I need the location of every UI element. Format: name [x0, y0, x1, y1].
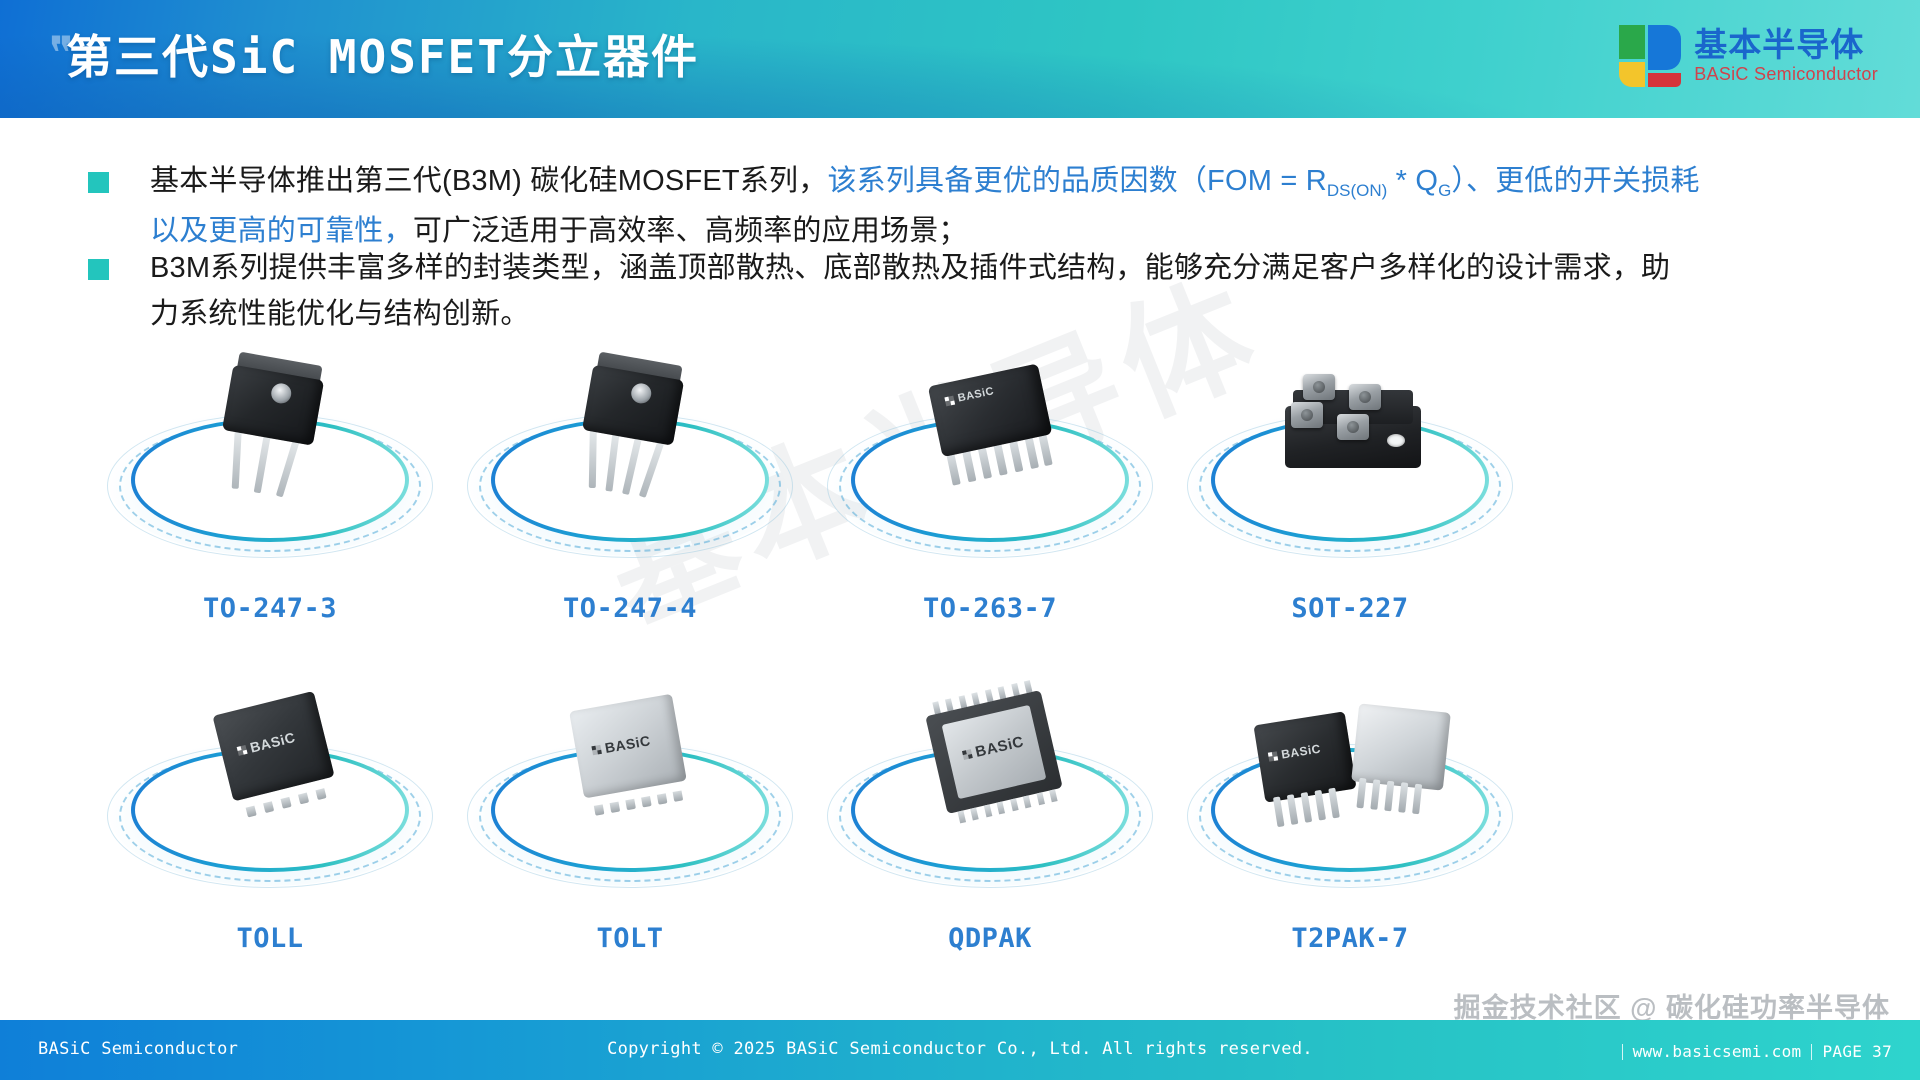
- device-pin: [1036, 792, 1045, 805]
- device-pin: [610, 802, 621, 813]
- slide-header: ❞ 第三代SiC MOSFET分立器件 基本半导体 BASiC Semicond…: [0, 0, 1920, 118]
- device-pin: [246, 806, 257, 818]
- device-pin: [281, 797, 292, 809]
- device-pin: [625, 799, 636, 810]
- device-t2pak-7-icon: BASiC: [1259, 704, 1449, 810]
- logo-mark-icon: [1619, 25, 1681, 87]
- device-pin: [315, 788, 326, 800]
- device-pin: [997, 801, 1006, 814]
- device-pin: [657, 793, 668, 804]
- bullet-1-highlight-b: * Q: [1387, 165, 1438, 197]
- device-lead: [1356, 778, 1366, 809]
- device-lead: [1412, 784, 1422, 815]
- bullet-1-subscript-qg: G: [1438, 181, 1451, 200]
- brand-square-icon: [237, 744, 248, 755]
- bullet-1-line2-highlight: 以及更高的可靠性，: [150, 215, 413, 247]
- package-stage: BASiC: [465, 686, 795, 906]
- package-label: SOT-227: [1120, 593, 1580, 624]
- logo-quadrant-yellow-icon: [1619, 62, 1645, 87]
- device-lead: [589, 428, 597, 488]
- package-stage: BASiC: [1185, 686, 1515, 906]
- bullet-2-line2: 力系统性能优化与结构创新。: [150, 298, 530, 330]
- bullet-2-text: B3M系列提供丰富多样的封装类型，涵盖顶部散热、底部散热及插件式结构，能够充分满…: [150, 245, 1670, 337]
- device-pin: [298, 793, 309, 805]
- footer-divider: [1622, 1044, 1623, 1060]
- package-label: T2PAK-7: [1120, 923, 1580, 954]
- device-unit-light: [1351, 703, 1451, 790]
- device-pin: [1010, 798, 1019, 811]
- device-pin: [1023, 795, 1032, 808]
- bullet-1-highlight-c: ）、更低的开关损耗: [1451, 165, 1699, 197]
- package-stage: [1185, 356, 1515, 576]
- footer-divider: [1811, 1044, 1812, 1060]
- package-stage: BASiC: [825, 686, 1155, 906]
- device-qdpak-icon: BASiC: [924, 684, 1064, 820]
- logo-chinese-name: 基本半导体: [1694, 27, 1878, 63]
- package-stage: [465, 356, 795, 576]
- logo-english-name: BASiC Semiconductor: [1694, 63, 1878, 85]
- device-screw-terminal: [1303, 374, 1335, 400]
- bullet-1-highlight-a: 该系列具备更优的品质因数（FOM = R: [827, 165, 1326, 197]
- logo-quadrant-green-icon: [1619, 25, 1645, 59]
- device-pin: [263, 801, 274, 813]
- package-stage: [105, 356, 435, 576]
- device-to-263-7-icon: BASiC: [928, 363, 1058, 484]
- device-unit-dark: BASiC: [1253, 711, 1356, 802]
- device-body: [1351, 703, 1451, 790]
- brand-square-icon: [962, 749, 973, 760]
- footer-website[interactable]: www.basicsemi.com: [1633, 1042, 1802, 1061]
- bullet-square-icon: [88, 172, 109, 193]
- bullet-2-line1: B3M系列提供丰富多样的封装类型，涵盖顶部散热、底部散热及插件式结构，能够充分满…: [150, 252, 1670, 284]
- brand-square-icon: [944, 395, 955, 406]
- bullet-1-text: 基本半导体推出第三代(B3M) 碳化硅MOSFET系列，该系列具备更优的品质因数…: [150, 158, 1700, 254]
- package-card-sot-227[interactable]: SOT-227: [1120, 350, 1580, 670]
- bullet-1-line2-plain: 可广泛适用于高效率、高频率的应用场景；: [413, 215, 968, 247]
- company-logo: 基本半导体 BASiC Semiconductor: [1619, 25, 1878, 87]
- device-lead: [1370, 779, 1380, 810]
- brand-square-icon: [1268, 751, 1278, 761]
- device-pin: [673, 790, 684, 801]
- footer-meta: www.basicsemi.com PAGE 37: [1622, 1042, 1892, 1061]
- device-mounting-hole: [1387, 434, 1405, 447]
- device-pin: [984, 804, 993, 817]
- device-screw-terminal: [1349, 384, 1381, 410]
- device-pin: [971, 807, 980, 820]
- device-lead: [1398, 782, 1408, 813]
- device-screw-terminal: [1337, 414, 1369, 440]
- logo-quadrant-red-icon: [1648, 73, 1681, 87]
- bullet-square-icon: [88, 259, 109, 280]
- device-pin: [641, 796, 652, 807]
- logo-text: 基本半导体 BASiC Semiconductor: [1694, 27, 1878, 85]
- device-toll-icon: BASiC: [212, 691, 337, 813]
- device-pin: [1049, 789, 1058, 802]
- device-lead: [1384, 781, 1394, 812]
- device-sot-227-icon: [1285, 372, 1421, 476]
- bullet-1-line1-plain: 基本半导体推出第三代(B3M) 碳化硅MOSFET系列，: [150, 165, 827, 197]
- package-grid: TO-247-3 TO-247-4: [40, 350, 1880, 1010]
- logo-quadrant-blue-icon: [1648, 25, 1681, 70]
- package-stage: BASiC: [105, 686, 435, 906]
- slide-footer: BASiC Semiconductor Copyright © 2025 BAS…: [0, 1020, 1920, 1080]
- package-card-t2pak-7[interactable]: BASiC T2PAK-7: [1120, 680, 1580, 1000]
- device-screw-terminal: [1291, 402, 1323, 428]
- slide-content: 基本半导体 基本半导体推出第三代(B3M) 碳化硅MOSFET系列，该系列具备更…: [0, 118, 1920, 1020]
- footer-page-number: PAGE 37: [1822, 1042, 1892, 1061]
- device-pin: [958, 810, 967, 823]
- page-title: 第三代SiC MOSFET分立器件: [66, 22, 699, 92]
- bullet-1-subscript-rdson: DS(ON): [1327, 181, 1387, 200]
- device-tolt-icon: BASiC: [569, 694, 689, 811]
- bullet-item-1: 基本半导体推出第三代(B3M) 碳化硅MOSFET系列，该系列具备更优的品质因数…: [88, 158, 1878, 254]
- device-pin: [594, 804, 605, 815]
- bullet-item-2: B3M系列提供丰富多样的封装类型，涵盖顶部散热、底部散热及插件式结构，能够充分满…: [88, 245, 1878, 337]
- package-stage: BASiC: [825, 356, 1155, 576]
- brand-square-icon: [591, 744, 601, 754]
